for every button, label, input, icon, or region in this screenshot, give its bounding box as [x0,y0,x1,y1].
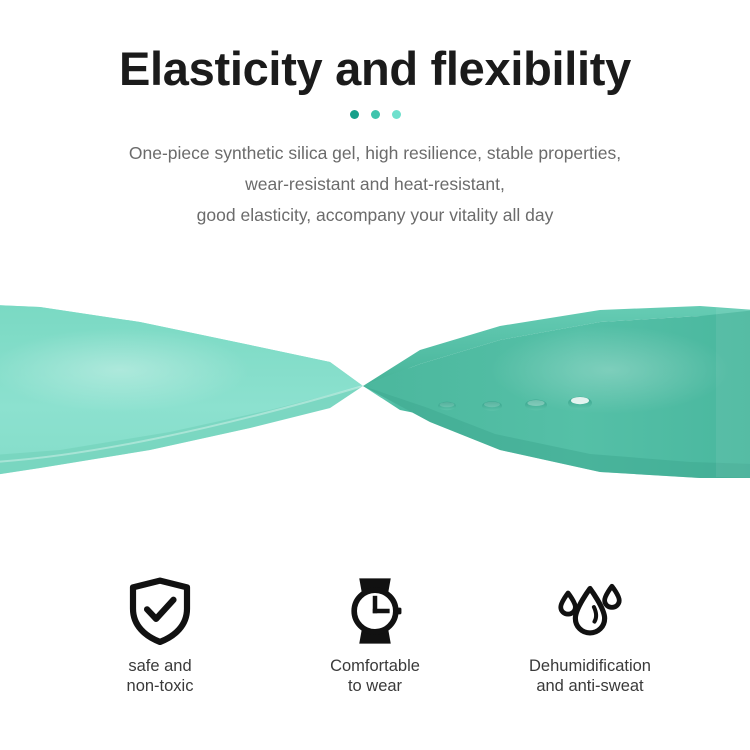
wristwatch-icon [339,575,411,647]
feature-label-dehumidification: Dehumidification and anti-sweat [529,656,651,696]
band-left-sheen [0,328,250,412]
feature-label-line-2: to wear [330,676,420,696]
dot-2 [371,110,380,119]
feature-item-comfortable-to-wear: Comfortable to wear [268,575,483,696]
band-hole-4 [568,397,592,409]
feature-item-safe-non-toxic: safe and non-toxic [53,575,268,696]
header: Elasticity and flexibility One-piece syn… [0,0,750,231]
feature-label-line-2: and anti-sweat [529,676,651,696]
band-hole-2 [482,401,502,411]
feature-label-safe-non-toxic: safe and non-toxic [127,656,194,696]
page-title: Elasticity and flexibility [0,0,750,95]
feature-label-line-2: non-toxic [127,676,194,696]
band-hole-3 [525,400,547,411]
feature-label-line-1: safe and [127,656,194,676]
product-feature-page: Elasticity and flexibility One-piece syn… [0,0,750,750]
subtitle-line-3: good elasticity, accompany your vitality… [0,200,750,231]
subtitle-line-1: One-piece synthetic silica gel, high res… [0,138,750,169]
feature-label-line-1: Comfortable [330,656,420,676]
dot-3 [392,110,401,119]
feature-label-comfortable-to-wear: Comfortable to wear [330,656,420,696]
band-right-edge-light [716,308,750,478]
subtitle: One-piece synthetic silica gel, high res… [0,138,750,231]
subtitle-line-2: wear-resistant and heat-resistant, [0,169,750,200]
feature-label-line-1: Dehumidification [529,656,651,676]
dot-1 [350,110,359,119]
shield-check-icon [124,575,196,647]
feature-list: safe and non-toxic [0,575,750,715]
feature-item-dehumidification: Dehumidification and anti-sweat [483,575,698,696]
band-hole-1 [438,402,456,410]
water-droplets-icon [554,575,626,647]
band-right-sheen [490,326,730,414]
dot-separator [0,109,750,121]
product-image [0,250,750,540]
